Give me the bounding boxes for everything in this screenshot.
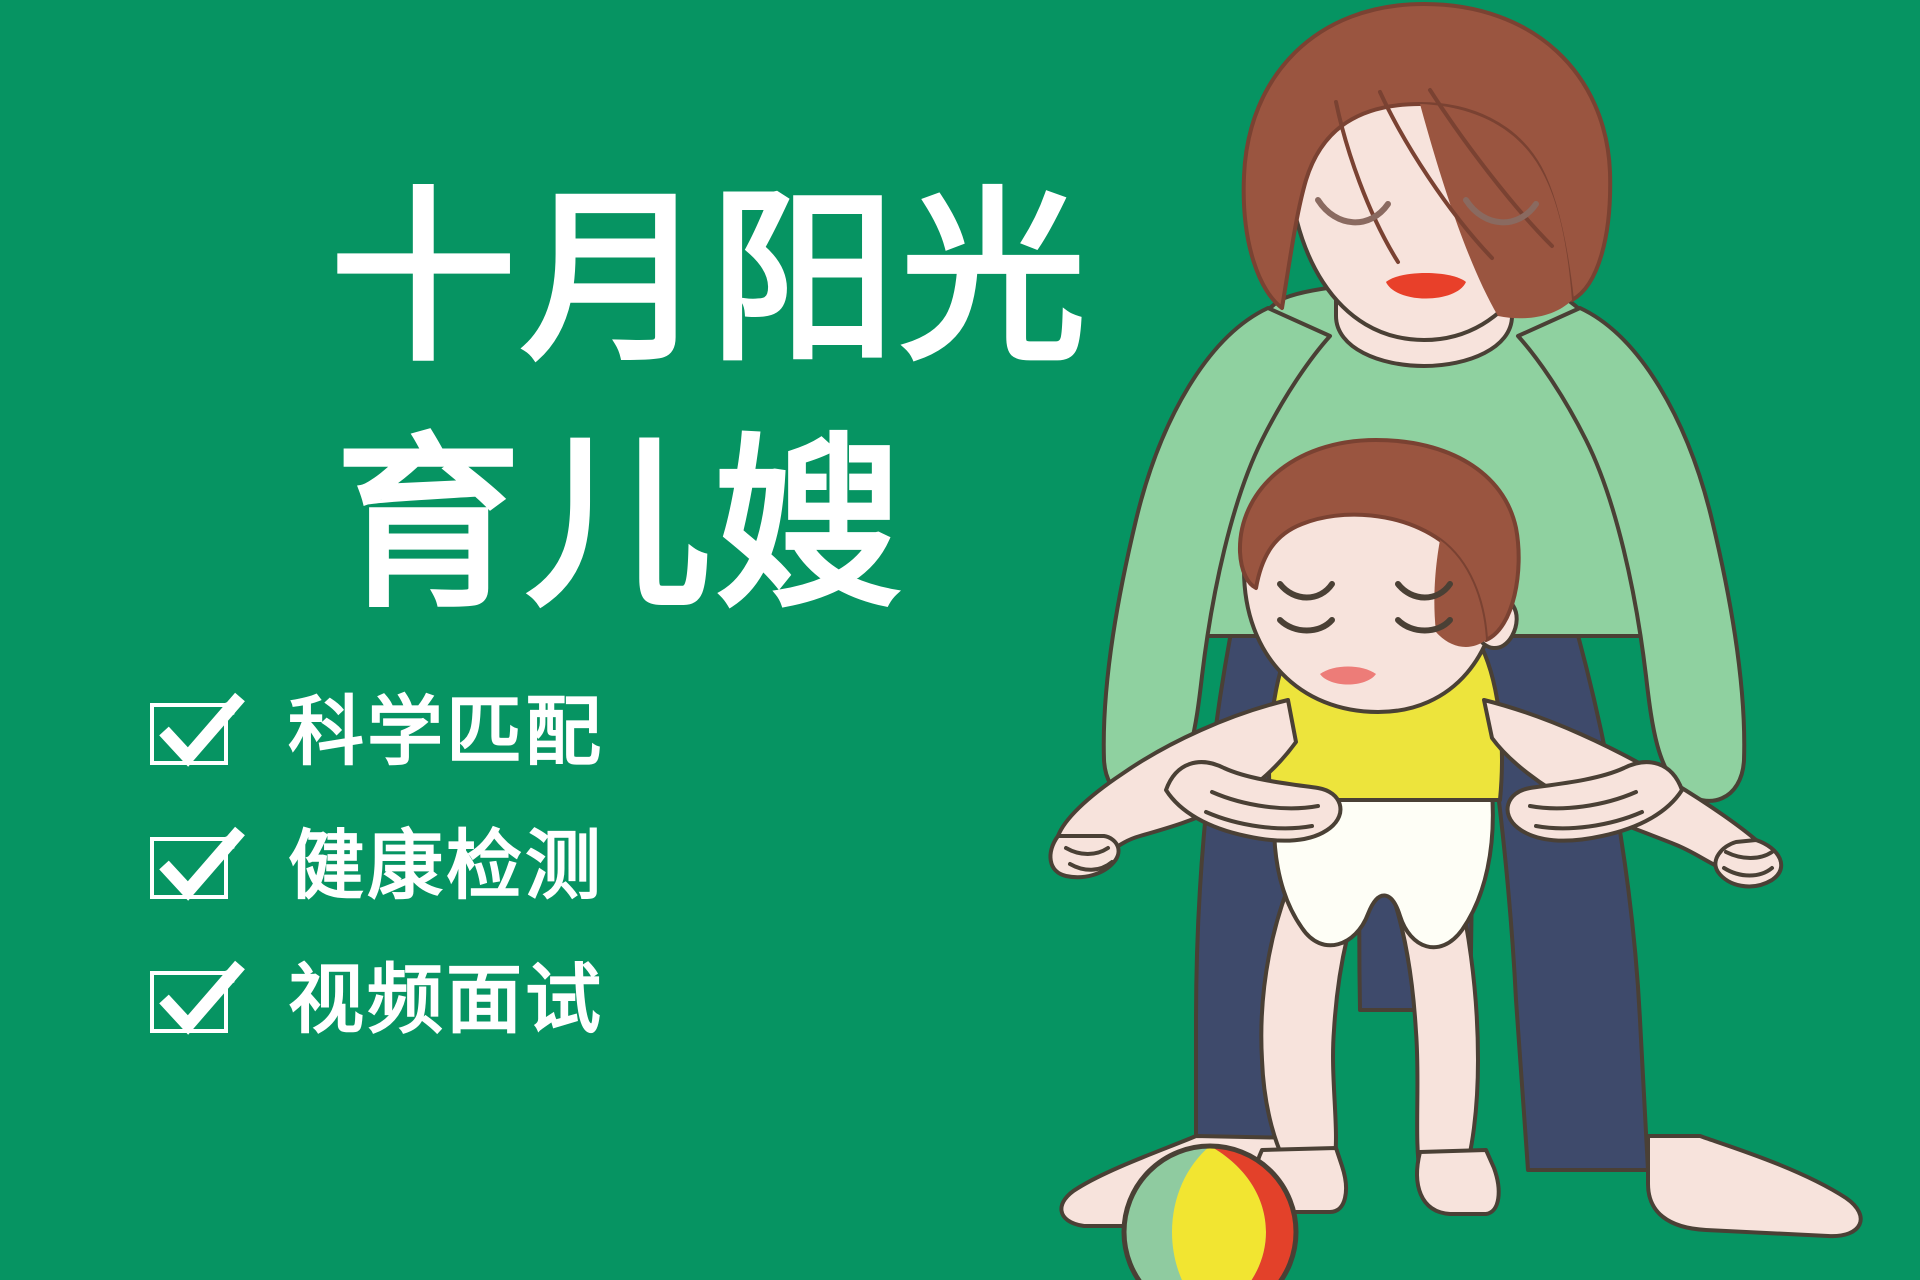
- headline-line-1: 十月阳光: [330, 186, 1090, 372]
- feature-label: 健康检测: [288, 828, 604, 904]
- headline-line-2: 育儿嫂: [335, 432, 905, 618]
- checkbox-checked-icon: [148, 829, 244, 903]
- checkbox-checked-icon: [148, 963, 244, 1037]
- feature-item: 科学匹配: [148, 692, 938, 772]
- feature-label: 科学匹配: [288, 694, 604, 770]
- feature-item: 健康检测: [148, 826, 938, 906]
- text-content-block: 十月阳光 育儿嫂 科学匹配: [0, 0, 1080, 1280]
- feature-label: 视频面试: [288, 962, 604, 1038]
- caregiver-holding-baby-illustration: [1000, 0, 1920, 1280]
- feature-item: 视频面试: [148, 960, 938, 1040]
- checkbox-checked-icon: [148, 695, 244, 769]
- poster-canvas: 十月阳光 育儿嫂 科学匹配: [0, 0, 1920, 1280]
- feature-list: 科学匹配 健康检测: [148, 692, 938, 1094]
